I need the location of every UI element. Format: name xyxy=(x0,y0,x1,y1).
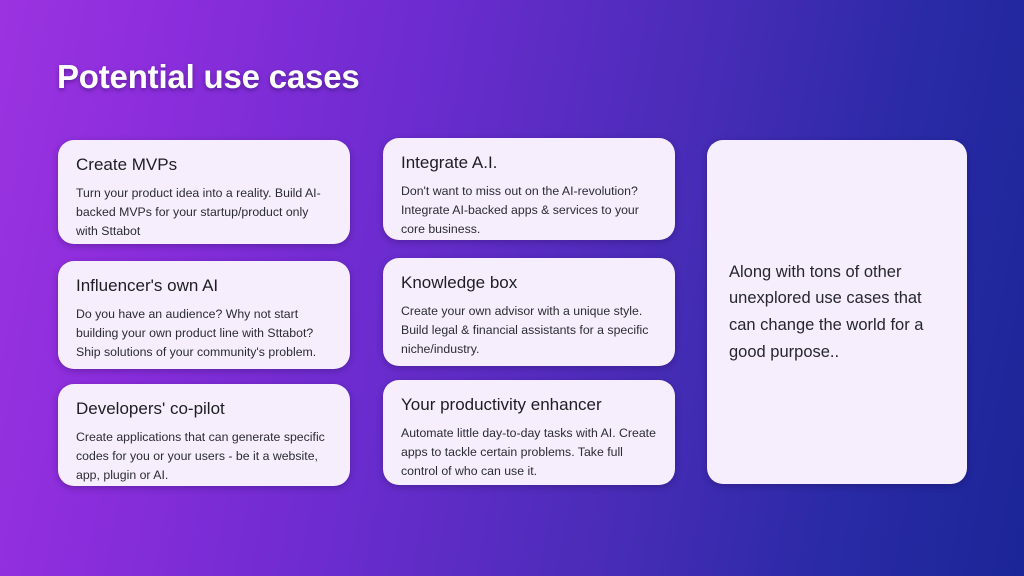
card-content: Developers' co-pilot Create applications… xyxy=(58,384,350,499)
card-heading: Knowledge box xyxy=(401,272,657,293)
card-body: Create applications that can generate sp… xyxy=(76,428,332,484)
card-body: Along with tons of other unexplored use … xyxy=(707,259,967,366)
card-body: Do you have an audience? Why not start b… xyxy=(76,305,332,361)
card-heading: Influencer's own AI xyxy=(76,275,332,296)
use-case-card-influencers-own-ai[interactable]: Influencer's own AI Do you have an audie… xyxy=(58,261,350,369)
card-content: Your productivity enhancer Automate litt… xyxy=(383,380,675,495)
card-body: Automate little day-to-day tasks with AI… xyxy=(401,424,657,480)
use-case-card-create-mvps[interactable]: Create MVPs Turn your product idea into … xyxy=(58,140,350,244)
card-body: Don't want to miss out on the AI-revolut… xyxy=(401,182,657,238)
card-content: Create MVPs Turn your product idea into … xyxy=(58,140,350,255)
card-body: Create your own advisor with a unique st… xyxy=(401,302,657,358)
card-heading: Developers' co-pilot xyxy=(76,398,332,419)
card-heading: Your productivity enhancer xyxy=(401,394,657,415)
card-content: Integrate A.I. Don't want to miss out on… xyxy=(383,138,675,253)
page-title: Potential use cases xyxy=(57,58,360,96)
use-case-card-integrate-ai[interactable]: Integrate A.I. Don't want to miss out on… xyxy=(383,138,675,240)
card-heading: Integrate A.I. xyxy=(401,152,657,173)
card-content: Influencer's own AI Do you have an audie… xyxy=(58,261,350,376)
card-heading: Create MVPs xyxy=(76,154,332,175)
use-case-card-developers-co-pilot[interactable]: Developers' co-pilot Create applications… xyxy=(58,384,350,486)
use-case-card-knowledge-box[interactable]: Knowledge box Create your own advisor wi… xyxy=(383,258,675,366)
card-body: Turn your product idea into a reality. B… xyxy=(76,184,332,240)
use-case-card-other-use-cases[interactable]: Along with tons of other unexplored use … xyxy=(707,140,967,484)
card-content: Knowledge box Create your own advisor wi… xyxy=(383,258,675,373)
use-case-card-productivity-enhancer[interactable]: Your productivity enhancer Automate litt… xyxy=(383,380,675,485)
